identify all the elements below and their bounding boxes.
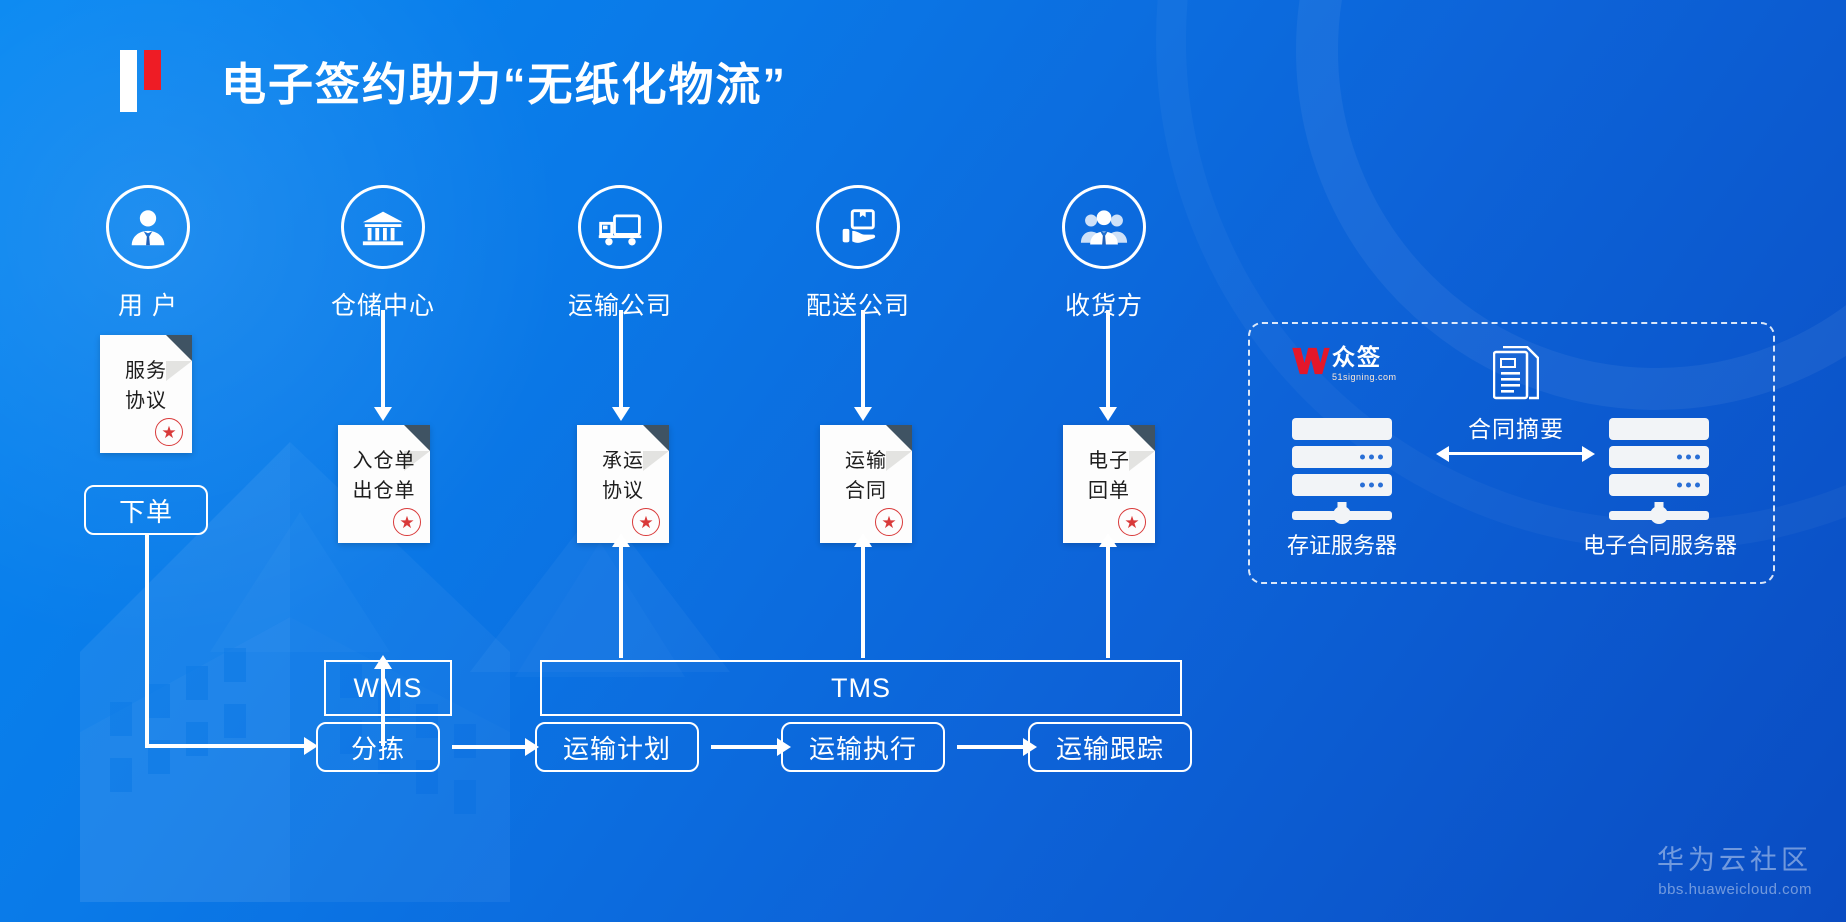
server-rack [1609,446,1709,468]
server-rack [1609,418,1709,440]
elbow-order-vertical [145,535,149,748]
document-line-2: 出仓单 [338,477,430,505]
zhongqian-w-icon [1292,346,1330,376]
server-rack [1292,446,1392,468]
contract-summary-label: 合同摘要 [1446,410,1586,444]
arrow-tms-to-contract-doc [861,546,865,658]
actor-user[interactable]: 用 户 [73,185,223,322]
brand-name: 众签 [1332,346,1397,369]
document-line-2: 回单 [1063,477,1155,505]
zhongqian-brand-text: 众签 51signing.com [1332,346,1397,382]
star-seal-icon: ★ [875,508,903,536]
document-line-1: 承运 [577,447,669,475]
logo-bar-red-icon [144,50,161,90]
actor-circle [816,185,900,269]
document-line-2: 合同 [820,477,912,505]
server-left-label: 存证服务器 [1262,528,1422,560]
order-box[interactable]: 下单 [84,485,208,535]
actor-receiver[interactable]: 收货方 [1029,185,1179,322]
server-led-dots-icon [1677,455,1700,460]
document-card-carriage-agreement[interactable]: 承运 协议 ★ [577,425,669,543]
document-line-1: 服务 [100,357,192,385]
warehouse-icon [360,204,406,250]
document-card-transport-contract[interactable]: 运输 合同 ★ [820,425,912,543]
document-line-2: 协议 [100,387,192,415]
user-icon [125,204,171,250]
server-base-icon [1609,502,1709,528]
page-header: 电子签约助力“无纸化物流” [120,48,787,113]
arrow-delivery-to-doc [861,310,865,408]
group-people-icon [1080,204,1128,250]
watermark-url: bbs.huaweicloud.com [1657,881,1812,898]
arrow-tms-to-receipt-doc [1106,546,1110,658]
brand-url: 51signing.com [1332,372,1397,382]
wms-label: WMS [354,673,423,704]
arrow-plan-to-execution [711,745,778,749]
server-rack [1609,474,1709,496]
arrow-tms-to-carriage-doc [619,546,623,658]
star-seal-icon: ★ [1118,508,1146,536]
logo-bar-white-icon [120,50,137,112]
actor-circle [1062,185,1146,269]
document-card-warehouse-order[interactable]: 入仓单 出仓单 ★ [338,425,430,543]
step-label: 分拣 [351,729,405,766]
tms-label: TMS [831,673,891,704]
tms-box[interactable]: TMS [540,660,1182,716]
server-base-icon [1292,502,1392,528]
signing-servers-panel: 众签 51signing.com 存证服务器 [1248,322,1775,584]
actor-circle [341,185,425,269]
actor-label: 收货方 [1029,286,1179,322]
star-seal-icon: ★ [632,508,660,536]
arrow-execution-to-tracking [957,745,1024,749]
actor-warehouse-center[interactable]: 仓储中心 [308,185,458,322]
step-box-transport-execution[interactable]: 运输执行 [781,722,945,772]
step-label: 运输跟踪 [1056,729,1164,766]
server-rack [1292,474,1392,496]
document-line-1: 运输 [820,447,912,475]
contract-document-icon [1493,346,1539,402]
document-card-electronic-receipt[interactable]: 电子 回单 ★ [1063,425,1155,543]
arrow-warehouse-to-doc [381,310,385,408]
step-box-transport-plan[interactable]: 运输计划 [535,722,699,772]
actor-label: 配送公司 [783,286,933,322]
wms-box[interactable]: WMS [324,660,452,716]
actor-label: 用 户 [73,286,223,322]
actor-circle [106,185,190,269]
watermark-name: 华为云社区 [1657,838,1812,877]
server-right-label: 电子合同服务器 [1570,528,1750,560]
actor-delivery-company[interactable]: 配送公司 [783,185,933,322]
arrow-order-to-sorting [145,744,305,748]
server-left[interactable] [1292,418,1392,528]
step-label: 运输计划 [563,729,671,766]
server-led-dots-icon [1360,455,1383,460]
star-seal-icon: ★ [393,508,421,536]
star-seal-icon: ★ [155,418,183,446]
document-line-1: 电子 [1063,447,1155,475]
actor-transport-company[interactable]: 运输公司 [545,185,695,322]
page-title: 电子签约助力“无纸化物流” [221,48,787,113]
arrow-transport-to-doc [619,310,623,408]
watermark: 华为云社区 bbs.huaweicloud.com [1657,838,1812,898]
arrow-sorting-to-plan [452,745,526,749]
step-box-sorting[interactable]: 分拣 [316,722,440,772]
brand-logo-icon [120,50,161,112]
truck-icon [596,203,644,251]
zhongqian-brand-logo: 众签 51signing.com [1292,346,1397,382]
step-box-transport-tracking[interactable]: 运输跟踪 [1028,722,1192,772]
step-label: 运输执行 [809,729,917,766]
actor-circle [578,185,662,269]
server-led-dots-icon [1360,483,1383,488]
order-box-label: 下单 [119,492,173,529]
hand-package-icon [835,204,881,250]
server-right[interactable] [1609,418,1709,528]
document-line-2: 协议 [577,477,669,505]
server-led-dots-icon [1677,483,1700,488]
bidirectional-arrow-icon [1448,452,1583,455]
document-card-service-agreement[interactable]: 服务 协议 ★ [100,335,192,453]
server-rack [1292,418,1392,440]
document-line-1: 入仓单 [338,447,430,475]
arrow-receiver-to-doc [1106,310,1110,408]
